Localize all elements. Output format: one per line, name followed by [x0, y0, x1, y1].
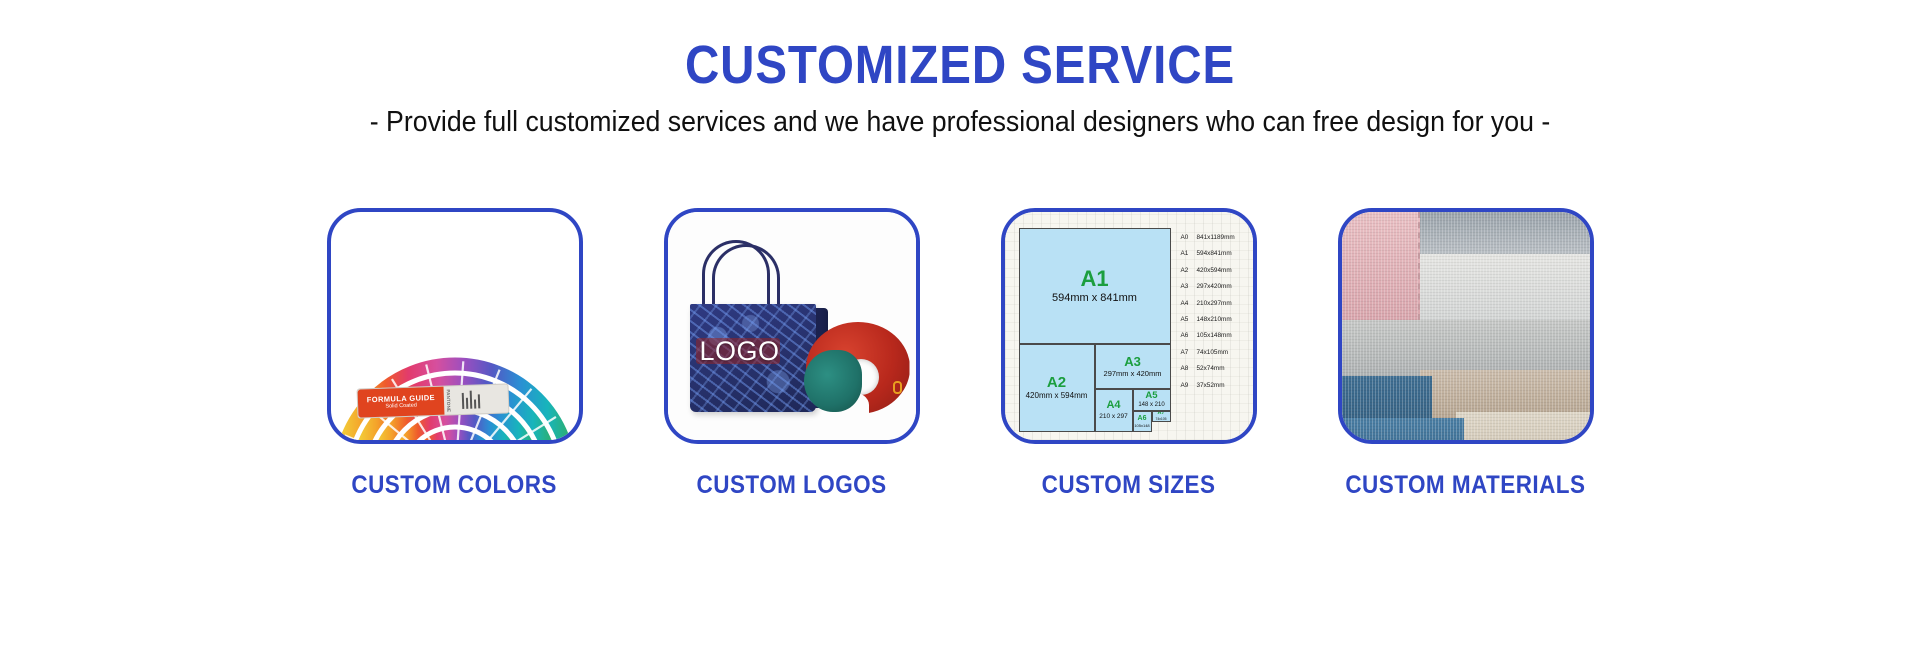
- pillow-zipper-icon: [893, 381, 902, 394]
- size-value: 37x52mm: [1197, 382, 1225, 389]
- size-list-row: A6 105x148mm: [1181, 332, 1255, 339]
- size-key: A0: [1181, 234, 1197, 241]
- tote-bag-icon: LOGO: [668, 212, 916, 440]
- size-value: 594x841mm: [1197, 250, 1232, 257]
- size-box-a5-label: A5: [1145, 391, 1157, 401]
- size-key: A6: [1181, 332, 1197, 339]
- size-key: A2: [1181, 267, 1197, 274]
- size-list-row: A1 594x841mm: [1181, 250, 1255, 257]
- size-key: A3: [1181, 283, 1197, 290]
- size-key: A8: [1181, 365, 1197, 372]
- guide-red-band: FORMULA GUIDE Solid Coated: [357, 387, 444, 418]
- fabric-swatch-blue-lower: [1342, 418, 1464, 440]
- size-box-a1-label: A1: [1080, 268, 1108, 290]
- fabric-swatches-icon: [1342, 212, 1590, 440]
- guide-barcode-icon: [461, 390, 480, 409]
- size-list-row: A9 37x52mm: [1181, 382, 1255, 389]
- paper-size-diagram: A1 594mm x 841mm A2 420mm x 594mm A3 297…: [1005, 212, 1253, 440]
- size-box-a4-label: A4: [1106, 400, 1120, 411]
- size-box-a7: A7 74x105: [1152, 411, 1171, 422]
- custom-materials-thumbnail[interactable]: [1338, 208, 1594, 444]
- feature-card-custom-colors[interactable]: FORMULA GUIDE Solid Coated PANTONE CUSTO…: [327, 208, 583, 500]
- bag-logo-text: LOGO: [698, 336, 782, 367]
- size-box-a6-dim: 105x148: [1134, 424, 1149, 428]
- card-caption-custom-sizes: CUSTOM SIZES: [1042, 471, 1216, 500]
- size-box-a2: A2 420mm x 594mm: [1019, 344, 1095, 432]
- size-list-row: A3 297x420mm: [1181, 283, 1255, 290]
- page-title: CUSTOMIZED SERVICE: [115, 38, 1805, 92]
- size-key: A5: [1181, 316, 1197, 323]
- size-key: A9: [1181, 382, 1197, 389]
- pillow-teal-section: [804, 350, 862, 412]
- banner-header: CUSTOMIZED SERVICE - Provide full custom…: [0, 0, 1920, 139]
- size-box-a5-dim: 148 x 210: [1138, 402, 1164, 409]
- size-value: 841x1189mm: [1197, 234, 1235, 241]
- size-box-a5: A5 148 x 210: [1133, 389, 1171, 411]
- custom-colors-thumbnail[interactable]: FORMULA GUIDE Solid Coated PANTONE: [327, 208, 583, 444]
- card-caption-custom-logos: CUSTOM LOGOS: [696, 471, 886, 500]
- guide-brand: PANTONE: [445, 389, 451, 412]
- customized-service-banner: CUSTOMIZED SERVICE - Provide full custom…: [0, 0, 1920, 649]
- size-value: 420x594mm: [1197, 267, 1232, 274]
- size-box-a2-label: A2: [1047, 375, 1066, 390]
- custom-logos-thumbnail[interactable]: LOGO: [664, 208, 920, 444]
- size-value: 74x105mm: [1197, 349, 1229, 356]
- size-list-row: A4 210x297mm: [1181, 300, 1255, 307]
- card-caption-custom-colors: CUSTOM COLORS: [352, 471, 557, 500]
- size-value: 297x420mm: [1197, 283, 1232, 290]
- size-box-a6-label: A6: [1138, 415, 1147, 422]
- size-list-row: A0 841x1189mm: [1181, 234, 1255, 241]
- pantone-formula-guide-label: FORMULA GUIDE Solid Coated PANTONE: [356, 383, 509, 418]
- page-subtitle: - Provide full customized services and w…: [77, 106, 1843, 139]
- feature-card-custom-sizes[interactable]: A1 594mm x 841mm A2 420mm x 594mm A3 297…: [1001, 208, 1257, 500]
- size-box-a4-dim: 210 x 297: [1099, 413, 1128, 420]
- a-series-boxes: A1 594mm x 841mm A2 420mm x 594mm A3 297…: [1019, 228, 1171, 432]
- feature-card-row: FORMULA GUIDE Solid Coated PANTONE CUSTO…: [0, 208, 1920, 500]
- custom-sizes-thumbnail[interactable]: A1 594mm x 841mm A2 420mm x 594mm A3 297…: [1001, 208, 1257, 444]
- size-value: 105x148mm: [1197, 332, 1232, 339]
- size-value: 210x297mm: [1197, 300, 1232, 307]
- size-box-a3-dim: 297mm x 420mm: [1104, 370, 1162, 378]
- pantone-fan-icon: FORMULA GUIDE Solid Coated PANTONE: [331, 212, 579, 440]
- fabric-swatch-grey: [1342, 320, 1590, 376]
- size-box-a3: A3 297mm x 420mm: [1095, 344, 1171, 389]
- size-box-a1-dim: 594mm x 841mm: [1052, 292, 1137, 304]
- size-list-row: A8 52x74mm: [1181, 365, 1255, 372]
- size-key: A4: [1181, 300, 1197, 307]
- size-value: 52x74mm: [1197, 365, 1225, 372]
- fabric-swatch-tan: [1420, 370, 1590, 418]
- size-box-a7-label: A7: [1157, 411, 1164, 416]
- size-value: 148x210mm: [1197, 316, 1232, 323]
- size-box-a1: A1 594mm x 841mm: [1019, 228, 1171, 344]
- size-list-row: A5 148x210mm: [1181, 316, 1255, 323]
- feature-card-custom-logos[interactable]: LOGO CUSTOM LOGOS: [664, 208, 920, 500]
- size-list-row: A7 74x105mm: [1181, 349, 1255, 356]
- size-key: A1: [1181, 250, 1197, 257]
- size-box-a6: A6 105x148: [1133, 411, 1152, 432]
- fabric-swatch-beige: [1456, 412, 1590, 440]
- size-box-a2-dim: 420mm x 594mm: [1026, 392, 1088, 401]
- size-box-a7-dim: 74x105: [1155, 418, 1166, 422]
- fabric-swatch-pink: [1342, 212, 1420, 320]
- size-box-a3-label: A3: [1124, 355, 1141, 368]
- fabric-swatch-grey-top: [1406, 212, 1590, 254]
- size-box-a4: A4 210 x 297: [1095, 389, 1133, 432]
- size-list-row: A2 420x594mm: [1181, 267, 1255, 274]
- guide-subtitle: Solid Coated: [385, 403, 417, 411]
- feature-card-custom-materials[interactable]: CUSTOM MATERIALS: [1338, 208, 1594, 500]
- neck-pillow-icon: [806, 322, 910, 414]
- paper-size-reference-list: A0 841x1189mm A1 594x841mm A2 420x594mm: [1181, 234, 1255, 398]
- bag-handle-right: [712, 244, 780, 310]
- size-key: A7: [1181, 349, 1197, 356]
- card-caption-custom-materials: CUSTOM MATERIALS: [1345, 471, 1585, 500]
